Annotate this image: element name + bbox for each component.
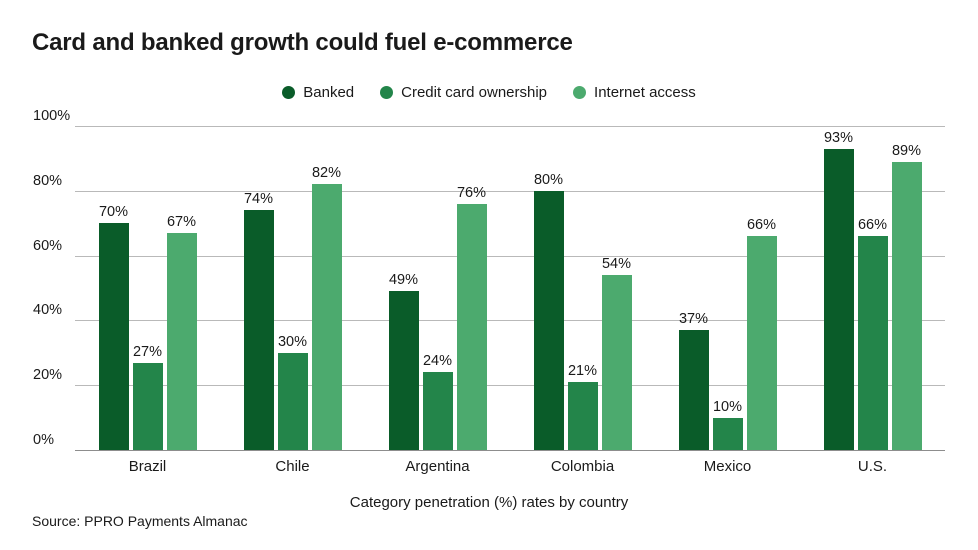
source-note: Source: PPRO Payments Almanac [32,513,248,529]
y-axis-tick-label: 20% [33,367,62,385]
bar[interactable]: 30% [278,353,308,450]
bar-group: 93%66%89%U.S. [800,126,945,450]
bar[interactable]: 24% [423,372,453,450]
bar-value-label: 89% [892,143,921,159]
gridline-0 [75,450,945,451]
bar-value-label: 70% [99,204,128,220]
bar-value-label: 82% [312,165,341,181]
bar-value-label: 93% [824,130,853,146]
y-axis-tick-label: 0% [33,432,54,450]
bar[interactable]: 70% [99,223,129,450]
bar[interactable]: 10% [713,418,743,450]
plot-area: 70%27%67%Brazil74%30%82%Chile49%24%76%Ar… [75,126,945,450]
bar-value-label: 24% [423,353,452,369]
x-axis-category-label: Colombia [551,458,614,475]
bar-value-label: 37% [679,311,708,327]
bar[interactable]: 49% [389,291,419,450]
bar-value-label: 66% [747,217,776,233]
bar-value-label: 54% [602,256,631,272]
bar[interactable]: 80% [534,191,564,450]
legend-swatch-icon [573,86,586,99]
bar[interactable]: 82% [312,184,342,450]
legend-label: Internet access [594,84,696,101]
bar-value-label: 27% [133,344,162,360]
y-axis-tick-label: 60% [33,238,62,256]
legend-item-0[interactable]: Banked [282,84,354,101]
chart-legend: BankedCredit card ownershipInternet acce… [0,84,978,101]
bar[interactable]: 76% [457,204,487,450]
bar[interactable]: 37% [679,330,709,450]
bar[interactable]: 66% [747,236,777,450]
bar-value-label: 67% [167,214,196,230]
bar-group: 74%30%82%Chile [220,126,365,450]
bar-value-label: 49% [389,272,418,288]
bar-group: 37%10%66%Mexico [655,126,800,450]
legend-swatch-icon [282,86,295,99]
legend-item-2[interactable]: Internet access [573,84,696,101]
legend-swatch-icon [380,86,393,99]
y-axis-tick-label: 40% [33,302,62,320]
x-axis-category-label: U.S. [858,458,887,475]
chart-title: Card and banked growth could fuel e-comm… [32,29,573,57]
legend-label: Credit card ownership [401,84,547,101]
bar-group: 70%27%67%Brazil [75,126,220,450]
bar[interactable]: 67% [167,233,197,450]
x-axis-title: Category penetration (%) rates by countr… [0,494,978,511]
bar[interactable]: 66% [858,236,888,450]
bar-value-label: 10% [713,399,742,415]
bar[interactable]: 89% [892,162,922,450]
bar-value-label: 80% [534,172,563,188]
x-axis-category-label: Chile [275,458,309,475]
x-axis-category-label: Argentina [405,458,469,475]
bar-value-label: 30% [278,334,307,350]
bar-value-label: 66% [858,217,887,233]
bar-group: 80%21%54%Colombia [510,126,655,450]
bar[interactable]: 93% [824,149,854,450]
y-axis-tick-label: 100% [33,108,70,126]
bar-group: 49%24%76%Argentina [365,126,510,450]
bar-value-label: 21% [568,363,597,379]
chart-figure: Card and banked growth could fuel e-comm… [0,0,978,550]
bar[interactable]: 54% [602,275,632,450]
bar[interactable]: 27% [133,363,163,450]
legend-label: Banked [303,84,354,101]
legend-item-1[interactable]: Credit card ownership [380,84,547,101]
bar[interactable]: 21% [568,382,598,450]
y-axis-tick-label: 80% [33,173,62,191]
x-axis-category-label: Brazil [129,458,167,475]
bar-value-label: 74% [244,191,273,207]
x-axis-category-label: Mexico [704,458,752,475]
bar-value-label: 76% [457,185,486,201]
bar[interactable]: 74% [244,210,274,450]
